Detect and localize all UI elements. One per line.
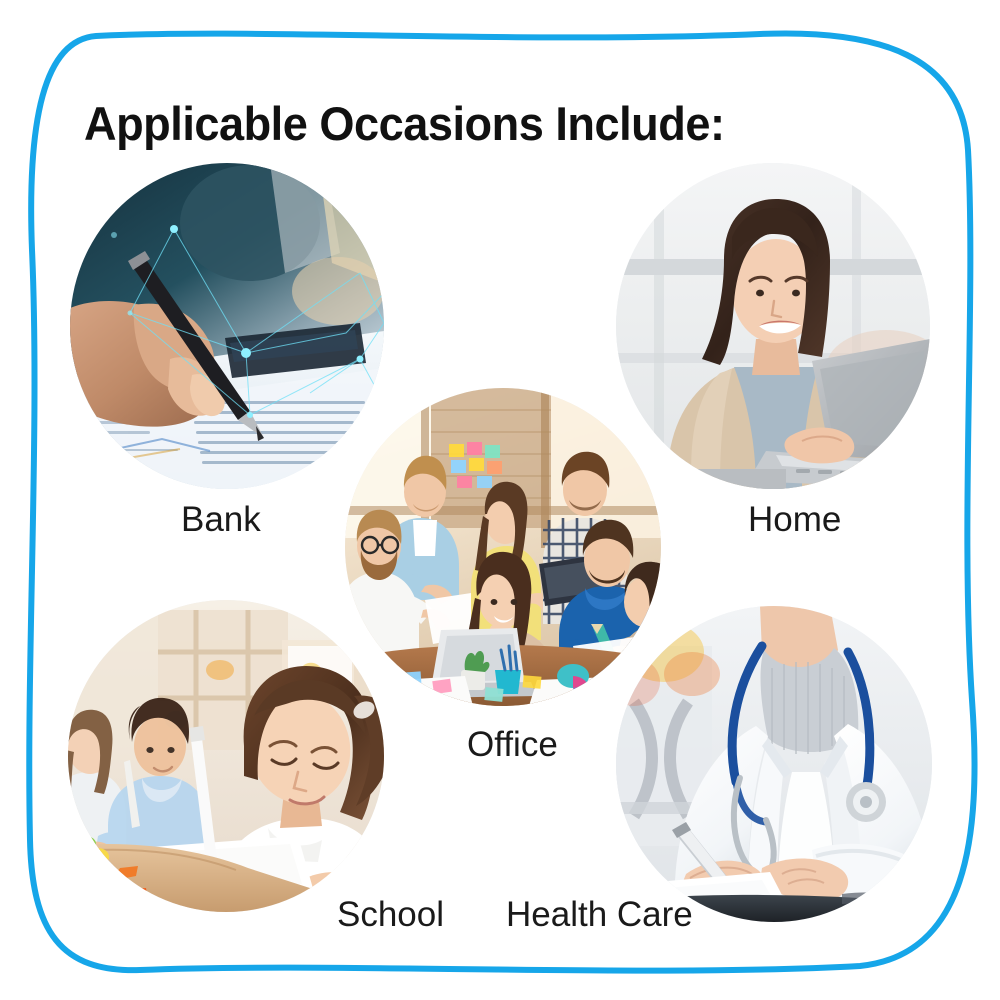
page-title: Applicable Occasions Include: — [84, 96, 725, 151]
occasion-label-bank: Bank — [181, 500, 261, 540]
office-illustration — [345, 388, 661, 706]
occasion-image-health-care — [616, 606, 932, 922]
occasion-label-health-care: Health Care — [506, 895, 693, 935]
home-illustration — [616, 163, 930, 489]
occasion-image-bank — [70, 163, 384, 489]
poster-canvas: Applicable Occasions Include: — [0, 0, 1000, 1000]
bank-illustration — [70, 163, 384, 489]
health-care-illustration — [616, 606, 932, 922]
occasion-label-home: Home — [748, 500, 841, 540]
school-illustration — [68, 600, 384, 912]
occasion-label-office: Office — [467, 725, 558, 765]
occasion-label-school: School — [337, 895, 444, 935]
occasion-image-school — [68, 600, 384, 912]
occasion-image-office — [345, 388, 661, 706]
occasion-image-home — [616, 163, 930, 489]
